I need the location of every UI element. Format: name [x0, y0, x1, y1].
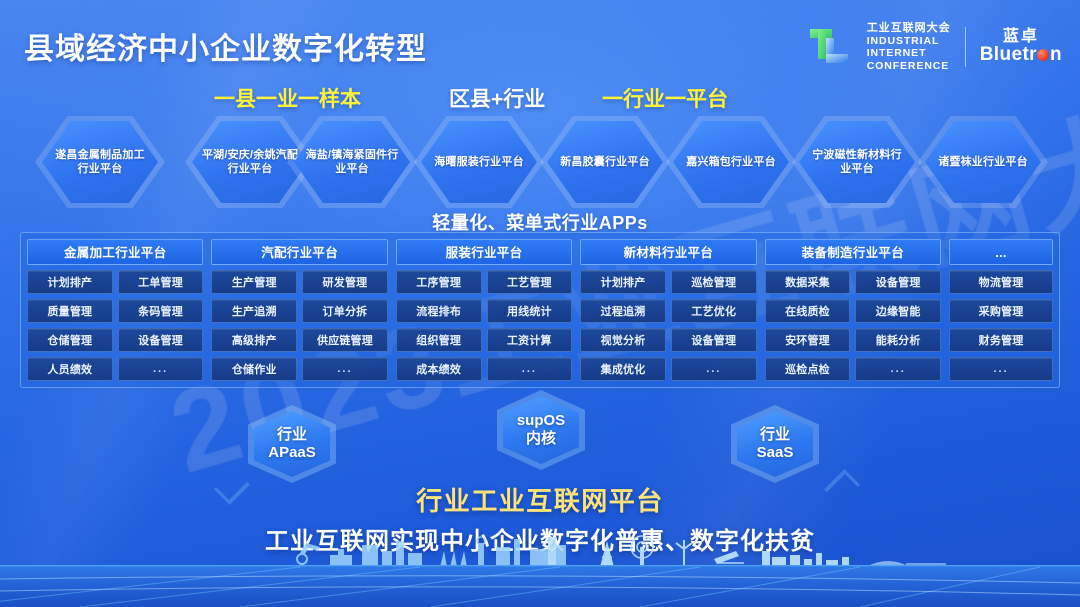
- app-tile[interactable]: 工艺管理: [487, 270, 573, 294]
- app-tile[interactable]: 能耗分析: [855, 328, 941, 352]
- app-tile[interactable]: 采购管理: [949, 299, 1053, 323]
- industry-column: ...物流管理采购管理财务管理...: [949, 239, 1053, 381]
- app-tile[interactable]: 视觉分析: [580, 328, 666, 352]
- app-tile[interactable]: 财务管理: [949, 328, 1053, 352]
- hexagon-label: 海曙服装行业平台: [430, 155, 528, 169]
- app-tile[interactable]: ...: [487, 357, 573, 381]
- app-tile[interactable]: 过程追溯: [580, 299, 666, 323]
- ground-perspective-lines: [0, 565, 1080, 607]
- column-header[interactable]: 服装行业平台: [396, 239, 572, 265]
- app-tile[interactable]: 仓储作业: [211, 357, 297, 381]
- brand-name-en-prefix: Bluetr: [980, 44, 1037, 65]
- app-tile[interactable]: 设备管理: [118, 328, 204, 352]
- tile-column: 工艺管理用线统计工资计算...: [487, 270, 573, 381]
- platform-layer-hexagon[interactable]: 行业APaaS: [248, 405, 336, 483]
- app-tile[interactable]: 高级排产: [211, 328, 297, 352]
- industry-hexagon[interactable]: 海曙服装行业平台: [414, 116, 544, 208]
- app-tile[interactable]: 仓储管理: [27, 328, 113, 352]
- industry-hexagon[interactable]: 诸暨袜业行业平台: [918, 116, 1048, 208]
- tile-column: 数据采集在线质检安环管理巡检点检: [765, 270, 851, 381]
- conference-name-cn: 工业互联网大会: [867, 22, 951, 35]
- subheading-2: 一行业一平台: [602, 83, 728, 113]
- hexagon-label: 诸暨袜业行业平台: [934, 155, 1032, 169]
- column-header[interactable]: 装备制造行业平台: [765, 239, 941, 265]
- column-header[interactable]: 金属加工行业平台: [27, 239, 203, 265]
- industry-column: 汽配行业平台生产管理生产追溯高级排产仓储作业研发管理订单分拆供应链管理...: [211, 239, 387, 381]
- industry-hexagon-row: 遂昌金属制品加工行业平台平湖/安庆/余姚汽配行业平台海盐/镇海紧固件行业平台海曙…: [0, 116, 1080, 208]
- industry-column: 装备制造行业平台数据采集在线质检安环管理巡检点检设备管理边缘智能能耗分析...: [765, 239, 941, 381]
- tile-column: 计划排产质量管理仓储管理人员绩效: [27, 270, 113, 381]
- layer-label-line1: 行业: [268, 426, 316, 444]
- platform-layer-hexagon[interactable]: 行业SaaS: [731, 405, 819, 483]
- app-tile[interactable]: 生产追溯: [211, 299, 297, 323]
- app-tile[interactable]: 研发管理: [302, 270, 388, 294]
- app-tile[interactable]: 供应链管理: [302, 328, 388, 352]
- brand-globe-icon: [1037, 49, 1049, 61]
- tile-column: 研发管理订单分拆供应链管理...: [302, 270, 388, 381]
- app-tile[interactable]: 条码管理: [118, 299, 204, 323]
- brand-name-cn: 蓝卓: [1003, 28, 1039, 46]
- platform-layer-hexagon[interactable]: supOS内核: [497, 390, 585, 470]
- conference-name-en-3: CONFERENCE: [867, 60, 951, 72]
- app-tile[interactable]: 订单分拆: [302, 299, 388, 323]
- app-tile[interactable]: 成本绩效: [396, 357, 482, 381]
- tile-column: 生产管理生产追溯高级排产仓储作业: [211, 270, 297, 381]
- brand-name-en: Bluetrn: [980, 45, 1062, 66]
- tile-column: 设备管理边缘智能能耗分析...: [855, 270, 941, 381]
- subheading-1: 区县+行业: [449, 83, 545, 113]
- slide-canvas: 2023工业互联网大会 县域经济中小企业数字化转型 工业互联网: [0, 0, 1080, 607]
- industry-hexagon[interactable]: 新昌胶囊行业平台: [540, 116, 670, 208]
- hexagon-label: 新昌胶囊行业平台: [556, 155, 654, 169]
- column-tiles: 计划排产过程追溯视觉分析集成优化巡检管理工艺优化设备管理...: [580, 270, 756, 381]
- column-header[interactable]: 新材料行业平台: [580, 239, 756, 265]
- industrial-skyline-icon: [0, 535, 1080, 567]
- app-tile[interactable]: 用线统计: [487, 299, 573, 323]
- app-tile[interactable]: ...: [949, 357, 1053, 381]
- app-tile[interactable]: 在线质检: [765, 299, 851, 323]
- platform-heading: 行业工业互联网平台: [0, 481, 1080, 518]
- hexagon-label: 嘉兴箱包行业平台: [682, 155, 780, 169]
- app-tile[interactable]: 工艺优化: [671, 299, 757, 323]
- app-tile[interactable]: 流程排布: [396, 299, 482, 323]
- brand-name-en-suffix: n: [1050, 44, 1062, 65]
- app-tile[interactable]: 数据采集: [765, 270, 851, 294]
- app-tile[interactable]: 工单管理: [118, 270, 204, 294]
- industry-apps-panel: 金属加工行业平台计划排产质量管理仓储管理人员绩效工单管理条码管理设备管理...汽…: [20, 232, 1060, 388]
- app-tile[interactable]: 集成优化: [580, 357, 666, 381]
- hexagon-label: 海盐/镇海紧固件行业平台: [303, 148, 401, 176]
- layer-label-line2: SaaS: [757, 444, 794, 462]
- app-tile[interactable]: 生产管理: [211, 270, 297, 294]
- brand-logo: 蓝卓 Bluetrn: [980, 28, 1062, 66]
- app-tile[interactable]: 组织管理: [396, 328, 482, 352]
- app-tile[interactable]: ...: [118, 357, 204, 381]
- skyline-footer: [0, 535, 1080, 607]
- app-tile[interactable]: 质量管理: [27, 299, 113, 323]
- page-title: 县域经济中小企业数字化转型: [24, 24, 427, 68]
- layer-label-line2: 内核: [517, 430, 565, 448]
- subheading-0: 一县一业一样本: [214, 83, 361, 113]
- app-tile[interactable]: 计划排产: [580, 270, 666, 294]
- tile-column: 巡检管理工艺优化设备管理...: [671, 270, 757, 381]
- column-tiles: 计划排产质量管理仓储管理人员绩效工单管理条码管理设备管理...: [27, 270, 203, 381]
- layer-hexagon-label: supOS内核: [517, 412, 565, 449]
- conference-name-en-1: INDUSTRIAL: [867, 35, 951, 47]
- layer-hexagon-label: 行业SaaS: [757, 426, 794, 463]
- industry-column: 金属加工行业平台计划排产质量管理仓储管理人员绩效工单管理条码管理设备管理...: [27, 239, 203, 381]
- app-tile[interactable]: 工资计算: [487, 328, 573, 352]
- app-tile[interactable]: 巡检点检: [765, 357, 851, 381]
- app-tile[interactable]: 设备管理: [671, 328, 757, 352]
- logo-group: 工业互联网大会 INDUSTRIAL INTERNET CONFERENCE 蓝…: [807, 22, 1062, 72]
- app-tile[interactable]: 安环管理: [765, 328, 851, 352]
- logo-divider: [965, 27, 966, 67]
- industry-column: 新材料行业平台计划排产过程追溯视觉分析集成优化巡检管理工艺优化设备管理...: [580, 239, 756, 381]
- subheading-row: 一县一业一样本区县+行业一行业一平台: [0, 83, 1080, 113]
- app-tile[interactable]: 设备管理: [855, 270, 941, 294]
- app-tile[interactable]: 人员绩效: [27, 357, 113, 381]
- column-tiles: 生产管理生产追溯高级排产仓储作业研发管理订单分拆供应链管理...: [211, 270, 387, 381]
- industry-hexagon[interactable]: 海盐/镇海紧固件行业平台: [287, 116, 417, 208]
- hexagon-label: 遂昌金属制品加工行业平台: [51, 148, 149, 176]
- layer-label-line2: APaaS: [268, 444, 316, 462]
- column-tiles: 数据采集在线质检安环管理巡检点检设备管理边缘智能能耗分析...: [765, 270, 941, 381]
- app-tile[interactable]: 边缘智能: [855, 299, 941, 323]
- app-tile[interactable]: ...: [671, 357, 757, 381]
- hexagon-label: 平湖/安庆/余姚汽配行业平台: [201, 148, 299, 176]
- app-tile[interactable]: 巡检管理: [671, 270, 757, 294]
- tile-column: 物流管理采购管理财务管理...: [949, 270, 1053, 381]
- app-tile[interactable]: ...: [302, 357, 388, 381]
- layer-label-line1: 行业: [757, 426, 794, 444]
- layer-hexagon-label: 行业APaaS: [268, 426, 316, 463]
- app-tile[interactable]: 工序管理: [396, 270, 482, 294]
- industry-hexagon[interactable]: 宁波磁性新材料行业平台: [792, 116, 922, 208]
- industry-hexagon[interactable]: 嘉兴箱包行业平台: [666, 116, 796, 208]
- layer-label-line1: supOS: [517, 412, 565, 430]
- hexagon-label: 宁波磁性新材料行业平台: [808, 148, 906, 176]
- column-header[interactable]: 汽配行业平台: [211, 239, 387, 265]
- column-tiles: 物流管理采购管理财务管理...: [949, 270, 1053, 381]
- app-tile[interactable]: ...: [855, 357, 941, 381]
- app-tile[interactable]: 物流管理: [949, 270, 1053, 294]
- industry-column: 服装行业平台工序管理流程排布组织管理成本绩效工艺管理用线统计工资计算...: [396, 239, 572, 381]
- app-tile[interactable]: 计划排产: [27, 270, 113, 294]
- conference-name-en-2: INTERNET: [867, 47, 951, 59]
- industry-hexagon[interactable]: 遂昌金属制品加工行业平台: [35, 116, 165, 208]
- column-tiles: 工序管理流程排布组织管理成本绩效工艺管理用线统计工资计算...: [396, 270, 572, 381]
- conference-logo-icon: [807, 24, 853, 70]
- conference-name: 工业互联网大会 INDUSTRIAL INTERNET CONFERENCE: [867, 22, 951, 72]
- column-header[interactable]: ...: [949, 239, 1053, 265]
- tile-column: 工序管理流程排布组织管理成本绩效: [396, 270, 482, 381]
- tile-column: 计划排产过程追溯视觉分析集成优化: [580, 270, 666, 381]
- tile-column: 工单管理条码管理设备管理...: [118, 270, 204, 381]
